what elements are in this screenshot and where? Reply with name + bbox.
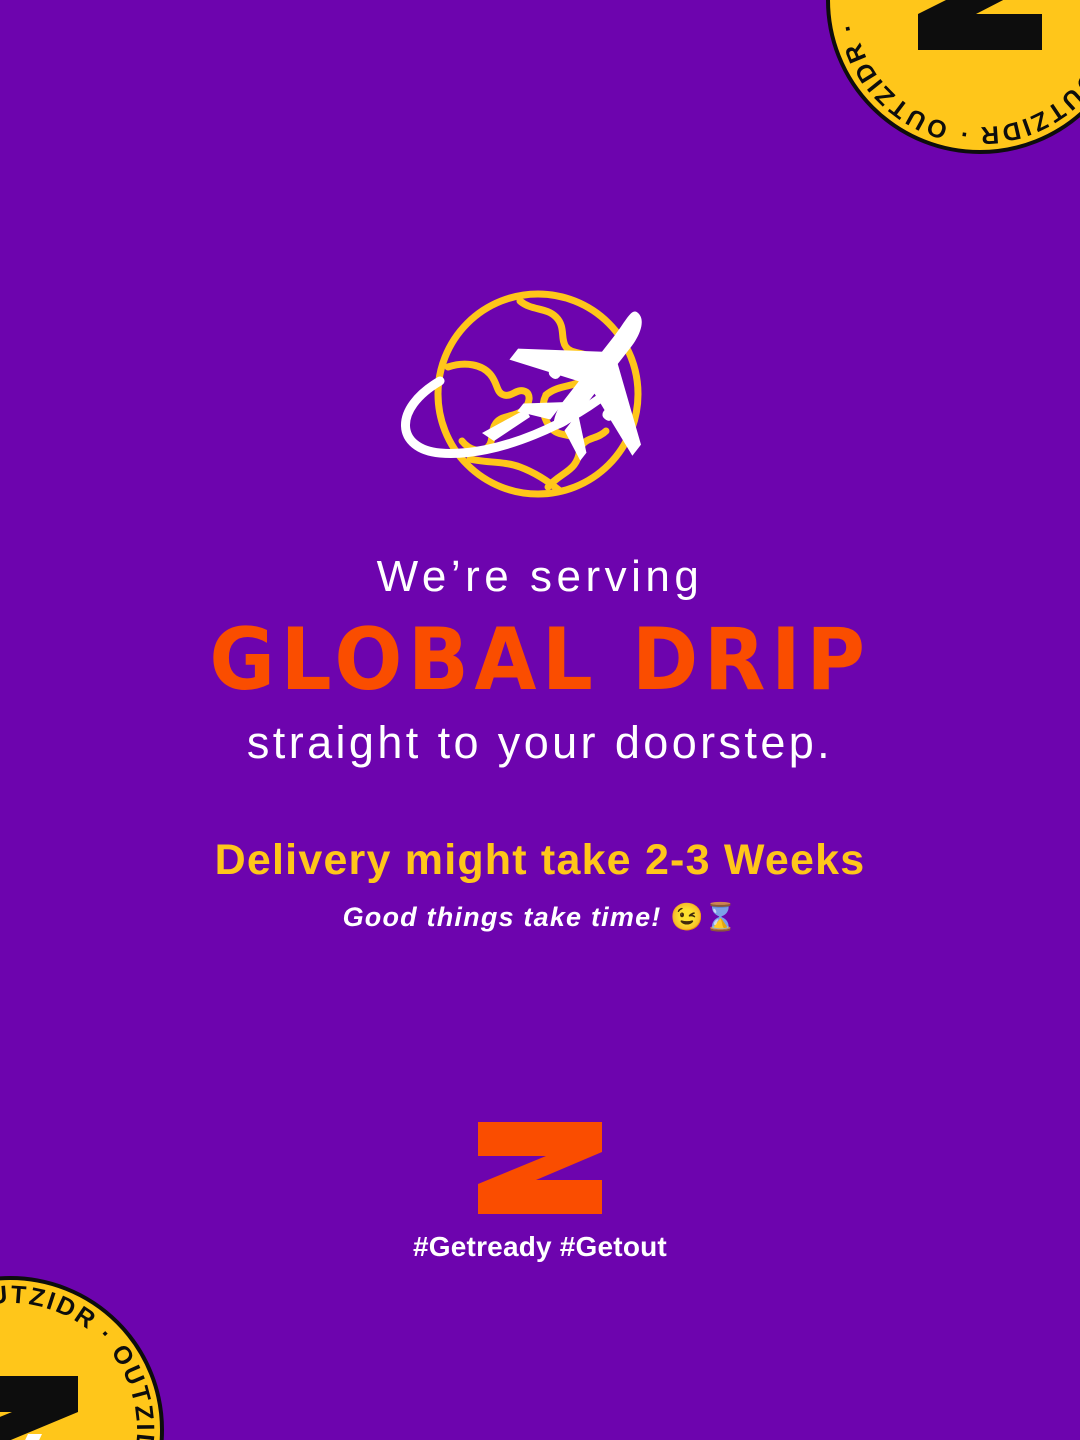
promo-poster: OUTZIDR · OUTZIDR · OUTZIDR · OUTZIDR · … (0, 0, 1080, 1440)
subhead-text: straight to your doorstep. (0, 717, 1080, 769)
delivery-note-text: Delivery might take 2-3 Weeks (0, 836, 1080, 885)
headline-text: GLOBAL DRIP (38, 617, 1042, 703)
z-logo-icon (478, 1122, 602, 1214)
outzidr-badge-top-right: OUTZIDR · OUTZIDR · OUTZIDR · OUTZIDR · … (820, 0, 1080, 160)
hashtags-text: #Getready #Getout (0, 1231, 1080, 1263)
globe-with-airplane-icon (370, 281, 710, 511)
hero-illustration (0, 276, 1080, 516)
eyebrow-text: We’re serving (0, 552, 1080, 603)
footer-block: #Getready #Getout (0, 1122, 1080, 1263)
reassurance-text: Good things take time! 😉⌛ (0, 901, 1080, 933)
wink-hourglass-emoji: 😉⌛ (670, 902, 737, 932)
brand-z-logo (478, 1122, 602, 1214)
outzidr-badge-bottom-left: OUTZIDR · OUTZIDR · OUTZIDR · OUTZIDR · … (0, 1270, 170, 1440)
reassurance-label: Good things take time! (343, 902, 662, 932)
copy-block: We’re serving GLOBAL DRIP straight to yo… (0, 552, 1080, 933)
